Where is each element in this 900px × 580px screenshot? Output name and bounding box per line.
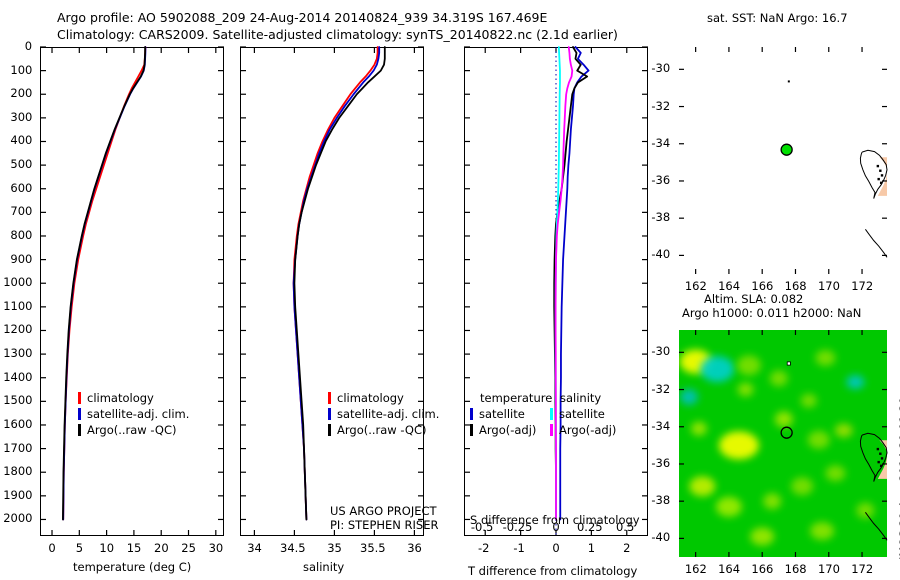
map-lat-tick-label: -30 [651,344,670,358]
map-lat-tick-label: -32 [651,382,670,396]
x-tick-label: 5 [76,541,83,555]
x-tick-label: 34.5 [280,541,306,555]
depth-tick-label: 1900 [3,488,32,502]
depth-tick-label: 1800 [3,464,32,478]
depth-tick-label: 700 [10,204,32,218]
depth-tick-label: 400 [10,133,32,147]
sst-map-title: sat. SST: NaN Argo: 16.7 [707,11,848,25]
depth-tick-label: 1200 [3,322,32,336]
map-lon-tick-label: 168 [785,562,807,576]
figure-title-line1: Argo profile: AO 5902088_209 24-Aug-2014… [57,10,547,25]
salinity-legend-item-swatch [328,408,331,420]
depth-tick-label: 1300 [3,346,32,360]
x-tick-label: 35.5 [360,541,386,555]
map-lat-tick-label: -34 [651,419,670,433]
difference-legend-header-temperature: temperature [480,391,552,405]
sst-map-area [679,47,887,274]
depth-tick-label: 100 [10,63,32,77]
sla-map-area [679,330,887,557]
depth-tick-label: 2000 [3,511,32,525]
depth-tick-label: 800 [10,228,32,242]
difference-legend-item-temperature-swatch [470,424,473,436]
map-lat-tick-label: -32 [651,99,670,113]
pi-label: PI: STEPHEN RISER [330,518,439,532]
map-lon-tick-label: 172 [851,279,873,293]
map-lon-tick-label: 162 [685,279,707,293]
temperature-xaxis-label: temperature (deg C) [73,560,191,574]
difference-legend-item-temperature-label: satellite [479,407,525,421]
salinity-legend-item-swatch [328,424,331,436]
depth-tick-label: 1600 [3,417,32,431]
map-lat-tick-label: -40 [651,530,670,544]
sla-map-title-line1: Altim. SLA: 0.082 [704,292,803,306]
x-tick-label: 35 [327,541,342,555]
salinity-legend-item-label: satellite-adj. clim. [337,407,439,421]
x-tick-label: 30 [209,541,224,555]
temperature-legend-item-swatch [78,392,81,404]
depth-tick-label: 1400 [3,370,32,384]
difference-legend-item-temperature-swatch [470,408,473,420]
map-lon-tick-label: 170 [818,562,840,576]
x-tick-label: 2 [623,541,630,555]
depth-tick-label: 1700 [3,441,32,455]
x-tick-label: 1 [588,541,595,555]
project-label: US ARGO PROJECT [330,504,437,518]
depth-tick-label: 600 [10,181,32,195]
figure-title-line2: Climatology: CARS2009. Satellite-adjuste… [57,27,618,42]
figure-root: Argo profile: AO 5902088_209 24-Aug-2014… [0,0,900,580]
x-tick-label: 36 [407,541,422,555]
difference-legend-header-salinity: salinity [560,391,601,405]
difference-legend-item-temperature-label: Argo(-adj) [479,423,536,437]
x-tick-label: 0 [48,541,55,555]
difference-legend-item-salinity-swatch [550,424,553,436]
map-lon-tick-label: 164 [718,562,740,576]
temperature-legend-item-label: climatology [87,391,154,405]
salinity-legend-item-label: Argo(..raw -QC) [337,423,427,437]
depth-tick-label: 0 [25,39,32,53]
difference-plot-area [464,47,648,536]
map-lon-tick-label: 162 [685,562,707,576]
depth-tick-label: 1500 [3,393,32,407]
depth-tick-label: 1000 [3,275,32,289]
map-lon-tick-label: 166 [751,279,773,293]
x-tick-label: 34 [247,541,262,555]
difference-xaxis-label-bottom: T difference from climatology [468,564,637,578]
x-tick-label: 0 [552,541,559,555]
map-lon-tick-label: 168 [785,279,807,293]
x-tick-label: -2 [478,541,489,555]
map-lat-tick-label: -34 [651,136,670,150]
temperature-legend-item-label: satellite-adj. clim. [87,407,189,421]
difference-legend-item-salinity-label: satellite [559,407,605,421]
x-tick-label: -1 [513,541,524,555]
depth-tick-label: 300 [10,110,32,124]
depth-tick-label: 500 [10,157,32,171]
map-lat-tick-label: -36 [651,456,670,470]
map-lat-tick-label: -38 [651,493,670,507]
depth-tick-label: 900 [10,252,32,266]
salinity-xaxis-label: salinity [303,560,344,574]
salinity-plot-area [240,47,424,536]
x-tick-label: 25 [181,541,196,555]
map-lon-tick-label: 164 [718,279,740,293]
depth-tick-label: 200 [10,86,32,100]
map-lat-tick-label: -30 [651,61,670,75]
salinity-legend-item-swatch [328,392,331,404]
map-lat-tick-label: -40 [651,247,670,261]
salinity-legend-item-label: climatology [337,391,404,405]
map-lon-tick-label: 172 [851,562,873,576]
depth-tick-label: 1100 [3,299,32,313]
difference-legend-item-salinity-label: Argo(-adj) [559,423,616,437]
x-tick-label: 20 [154,541,169,555]
sla-map-title-line2: Argo h1000: 0.011 h2000: NaN [682,306,861,320]
temperature-legend-item-swatch [78,408,81,420]
map-lon-tick-label: 166 [751,562,773,576]
temperature-legend-item-swatch [78,424,81,436]
x-tick-label: 15 [127,541,142,555]
x-tick-label: 10 [99,541,114,555]
map-lat-tick-label: -38 [651,210,670,224]
map-lat-tick-label: -36 [651,173,670,187]
temperature-plot-area [40,47,224,536]
temperature-legend-item-label: Argo(..raw -QC) [87,423,177,437]
map-lon-tick-label: 170 [818,279,840,293]
difference-legend-item-salinity-swatch [550,408,553,420]
difference-xaxis-label-top: S difference from climatology [470,513,640,527]
